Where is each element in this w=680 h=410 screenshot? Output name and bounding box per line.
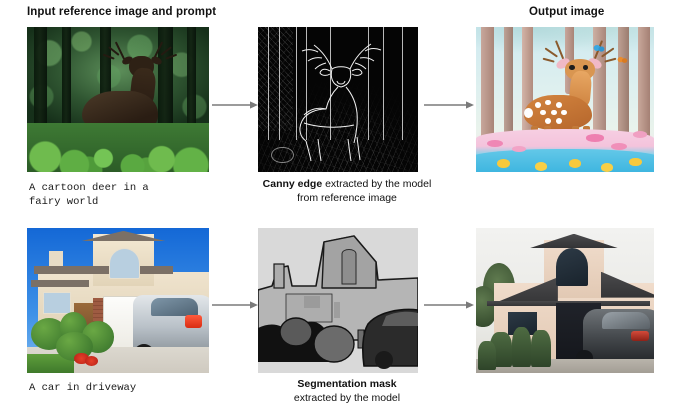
control-image-canny-edge: [258, 27, 418, 172]
butterfly-icon: [617, 56, 628, 65]
car-window: [151, 298, 198, 317]
flower: [569, 159, 581, 168]
forest-undergrowth: [27, 123, 209, 172]
deer-spot: [535, 102, 541, 108]
flower: [586, 134, 604, 141]
caption-segmentation-rest: extracted by the model: [294, 392, 400, 404]
canny-watermark: [271, 147, 294, 164]
window: [43, 292, 70, 314]
main-roof: [34, 266, 172, 275]
car-taillight: [185, 315, 201, 328]
prompt-text-deer: A cartoon deer in a fairy world: [29, 181, 209, 209]
flower: [633, 131, 647, 138]
arrow-right-icon: [212, 298, 258, 312]
hedge: [512, 327, 532, 368]
reference-image-deer: [27, 27, 209, 172]
arched-window: [556, 248, 588, 286]
arched-window: [109, 248, 140, 279]
cartoon-deer-eye: [569, 65, 574, 70]
porch-roof: [31, 280, 89, 287]
arrow-right-icon: [424, 298, 474, 312]
flower: [535, 162, 547, 171]
hedge: [478, 341, 496, 370]
segmentation-regions: [258, 228, 418, 373]
cartoon-tree: [481, 27, 493, 140]
output-image-rendered-house: [476, 228, 654, 373]
reference-image-house: [27, 228, 209, 373]
arrow-right-icon: [212, 98, 258, 112]
flower: [497, 159, 509, 168]
flower: [629, 158, 641, 167]
cartoon-tree: [618, 27, 629, 140]
caption-segmentation-bold: Segmentation mask: [297, 378, 396, 390]
cartoon-deer-body: [524, 95, 592, 130]
cartoon-tree: [638, 27, 650, 140]
diagram-canvas: Input reference image and prompt Output …: [0, 0, 680, 410]
hedge: [531, 330, 551, 368]
control-image-segmentation-mask: [258, 228, 418, 373]
column-header-input: Input reference image and prompt: [27, 6, 216, 18]
car-taillight: [631, 331, 649, 341]
red-flowers: [85, 356, 98, 366]
caption-segmentation-mask: Segmentation mask extracted by the model: [258, 378, 436, 405]
output-image-cartoon-deer: [476, 27, 654, 172]
cartoon-deer-eye: [583, 65, 588, 70]
flower: [601, 163, 613, 172]
arrow-right-icon: [424, 98, 474, 112]
caption-canny-edge: Canny edge extracted by the model from r…: [258, 178, 436, 205]
caption-canny-edge-bold: Canny edge: [263, 178, 323, 190]
prompt-text-car: A car in driveway: [29, 381, 209, 395]
cartoon-tree: [504, 27, 513, 140]
car-window: [602, 312, 650, 329]
column-header-output: Output image: [529, 6, 604, 18]
butterfly-icon: [593, 44, 605, 54]
